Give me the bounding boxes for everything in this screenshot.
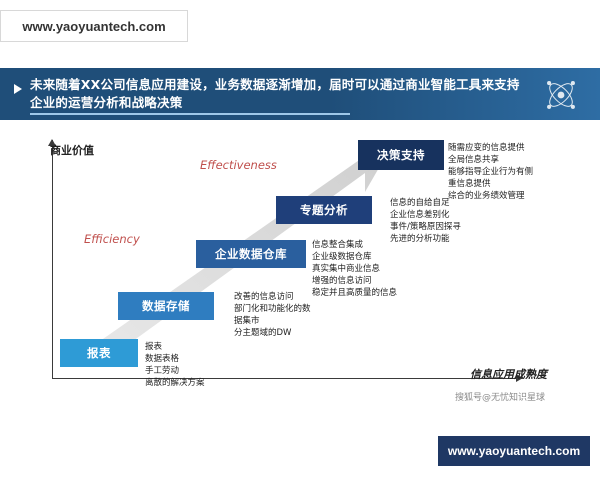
stage-details-data-storage: 改善的信息访问 部门化和功能化的数 据集市 分主题域的DW <box>234 291 311 339</box>
source-credit: 搜狐号@无忧知识星球 <box>455 390 545 403</box>
x-axis-label: 信息应用成熟度 <box>470 366 547 382</box>
atom-network-icon <box>544 78 578 112</box>
header-band: 未来随着XX公司信息应用建设，业务数据逐渐增加，届时可以通过商业智能工具来支持企… <box>0 68 600 120</box>
stage-details-enterprise-dw: 信息整合集成 企业级数据仓库 真实集中商业信息 增强的信息访问 稳定并且高质量的… <box>312 239 397 299</box>
stage-box-enterprise-dw[interactable]: 企业数据仓库 <box>196 240 306 268</box>
stage-box-data-storage[interactable]: 数据存储 <box>118 292 214 320</box>
watermark-bottom-text: www.yaoyuantech.com <box>448 444 580 458</box>
x-axis <box>52 378 522 379</box>
watermark-top-text: www.yaoyuantech.com <box>22 19 165 34</box>
stage-details-decision-support: 随需应变的信息提供 全局信息共享 能够指导企业行为有侧 重信息提供 综合的业务绩… <box>448 142 533 202</box>
header-underline <box>30 113 350 115</box>
header-title: 未来随着XX公司信息应用建设，业务数据逐渐增加，届时可以通过商业智能工具来支持企… <box>30 76 530 112</box>
stage-box-decision-support[interactable]: 决策支持 <box>358 140 444 170</box>
bullet-icon <box>14 84 22 94</box>
watermark-bottom: www.yaoyuantech.com <box>438 436 590 466</box>
stage-box-reports[interactable]: 报表 <box>60 339 138 367</box>
watermark-top: www.yaoyuantech.com <box>0 10 188 42</box>
stage-details-reports: 报表 数据表格 手工劳动 离散的解决方案 <box>145 341 205 389</box>
efficiency-label: Efficiency <box>84 232 140 246</box>
y-axis <box>52 140 53 378</box>
stage-box-topic-analysis[interactable]: 专题分析 <box>276 196 372 224</box>
stage-details-topic-analysis: 信息的自给自足 企业信息差别化 事件/策略原因探寻 先进的分析功能 <box>390 197 461 245</box>
slide: www.yaoyuantech.com 未来随着XX公司信息应用建设，业务数据逐… <box>0 0 600 480</box>
effectiveness-label: Effectiveness <box>200 158 277 172</box>
